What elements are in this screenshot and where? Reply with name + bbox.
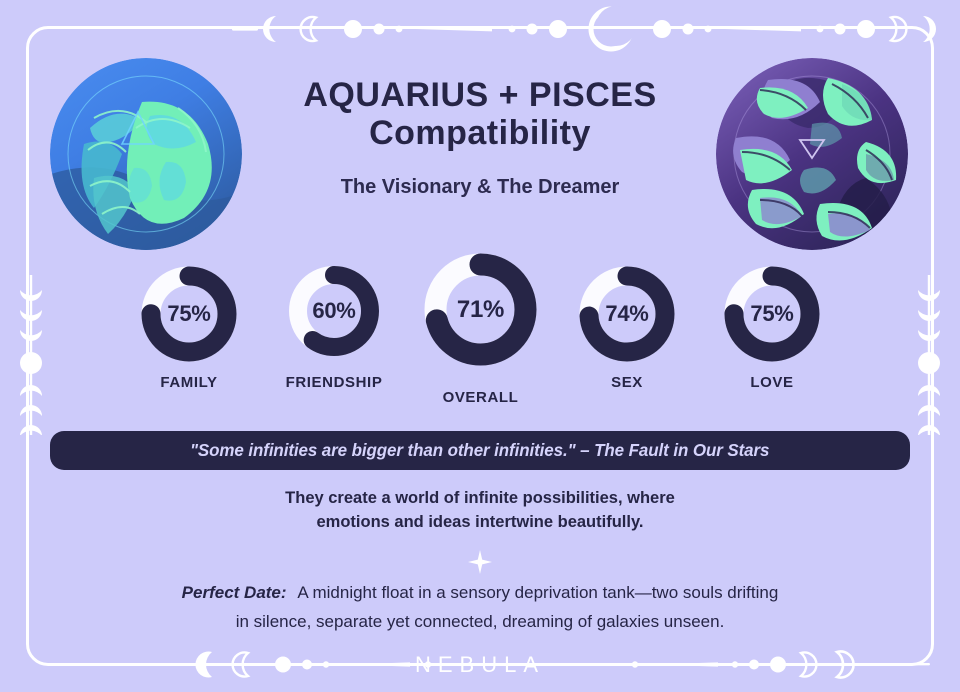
donut-overall: 71% OVERALL — [419, 248, 542, 371]
description-line-1: They create a world of infinite possibil… — [130, 487, 830, 511]
sparkle-divider-icon — [462, 549, 498, 575]
donut-love-value: 75% — [720, 301, 824, 327]
donut-sex-value: 74% — [575, 301, 679, 327]
perfect-date-label: Perfect Date: — [182, 583, 287, 602]
donut-family-label: FAMILY — [160, 374, 217, 391]
compatibility-donut-row: 75% FAMILY 60% FRIENDSHIP 71% OVERALL — [0, 248, 960, 413]
page-subtitle: The Visionary & The Dreamer — [250, 176, 710, 199]
perfect-date-line-2: in silence, separate yet connected, drea… — [236, 612, 725, 631]
donut-friendship-label: FRIENDSHIP — [286, 374, 383, 391]
donut-love-label: LOVE — [750, 374, 793, 391]
donut-friendship-value: 60% — [285, 298, 383, 324]
description-line-2: emotions and ideas intertwine beautifull… — [130, 511, 830, 535]
title-line-1: AQUARIUS + PISCES — [250, 76, 710, 114]
perfect-date-line-1: A midnight float in a sensory deprivatio… — [297, 583, 778, 602]
compatibility-card: NEBULA — [0, 0, 960, 692]
moon-phase-border-top — [0, 2, 960, 56]
moon-phase-border-bottom: NEBULA — [0, 637, 960, 691]
brand-name: NEBULA — [415, 652, 545, 677]
donut-love: 75% LOVE — [720, 262, 824, 366]
page-title: AQUARIUS + PISCES Compatibility — [250, 76, 710, 152]
donut-sex-label: SEX — [611, 374, 643, 391]
donut-overall-value: 71% — [419, 296, 542, 324]
donut-sex: 74% SEX — [575, 262, 679, 366]
donut-family-value: 75% — [137, 301, 241, 327]
donut-family: 75% FAMILY — [137, 262, 241, 366]
description: They create a world of infinite possibil… — [130, 487, 830, 535]
title-line-2: Compatibility — [250, 114, 710, 152]
quote-text: "Some infinities are bigger than other i… — [190, 440, 769, 461]
quote-banner: "Some infinities are bigger than other i… — [50, 431, 910, 470]
donut-friendship: 60% FRIENDSHIP — [285, 262, 383, 360]
header: AQUARIUS + PISCES Compatibility The Visi… — [250, 76, 710, 199]
donut-overall-label: OVERALL — [443, 389, 519, 406]
pisces-sign-illustration — [716, 58, 908, 250]
aquarius-sign-illustration — [50, 58, 242, 250]
perfect-date: Perfect Date: A midnight float in a sens… — [80, 578, 880, 636]
